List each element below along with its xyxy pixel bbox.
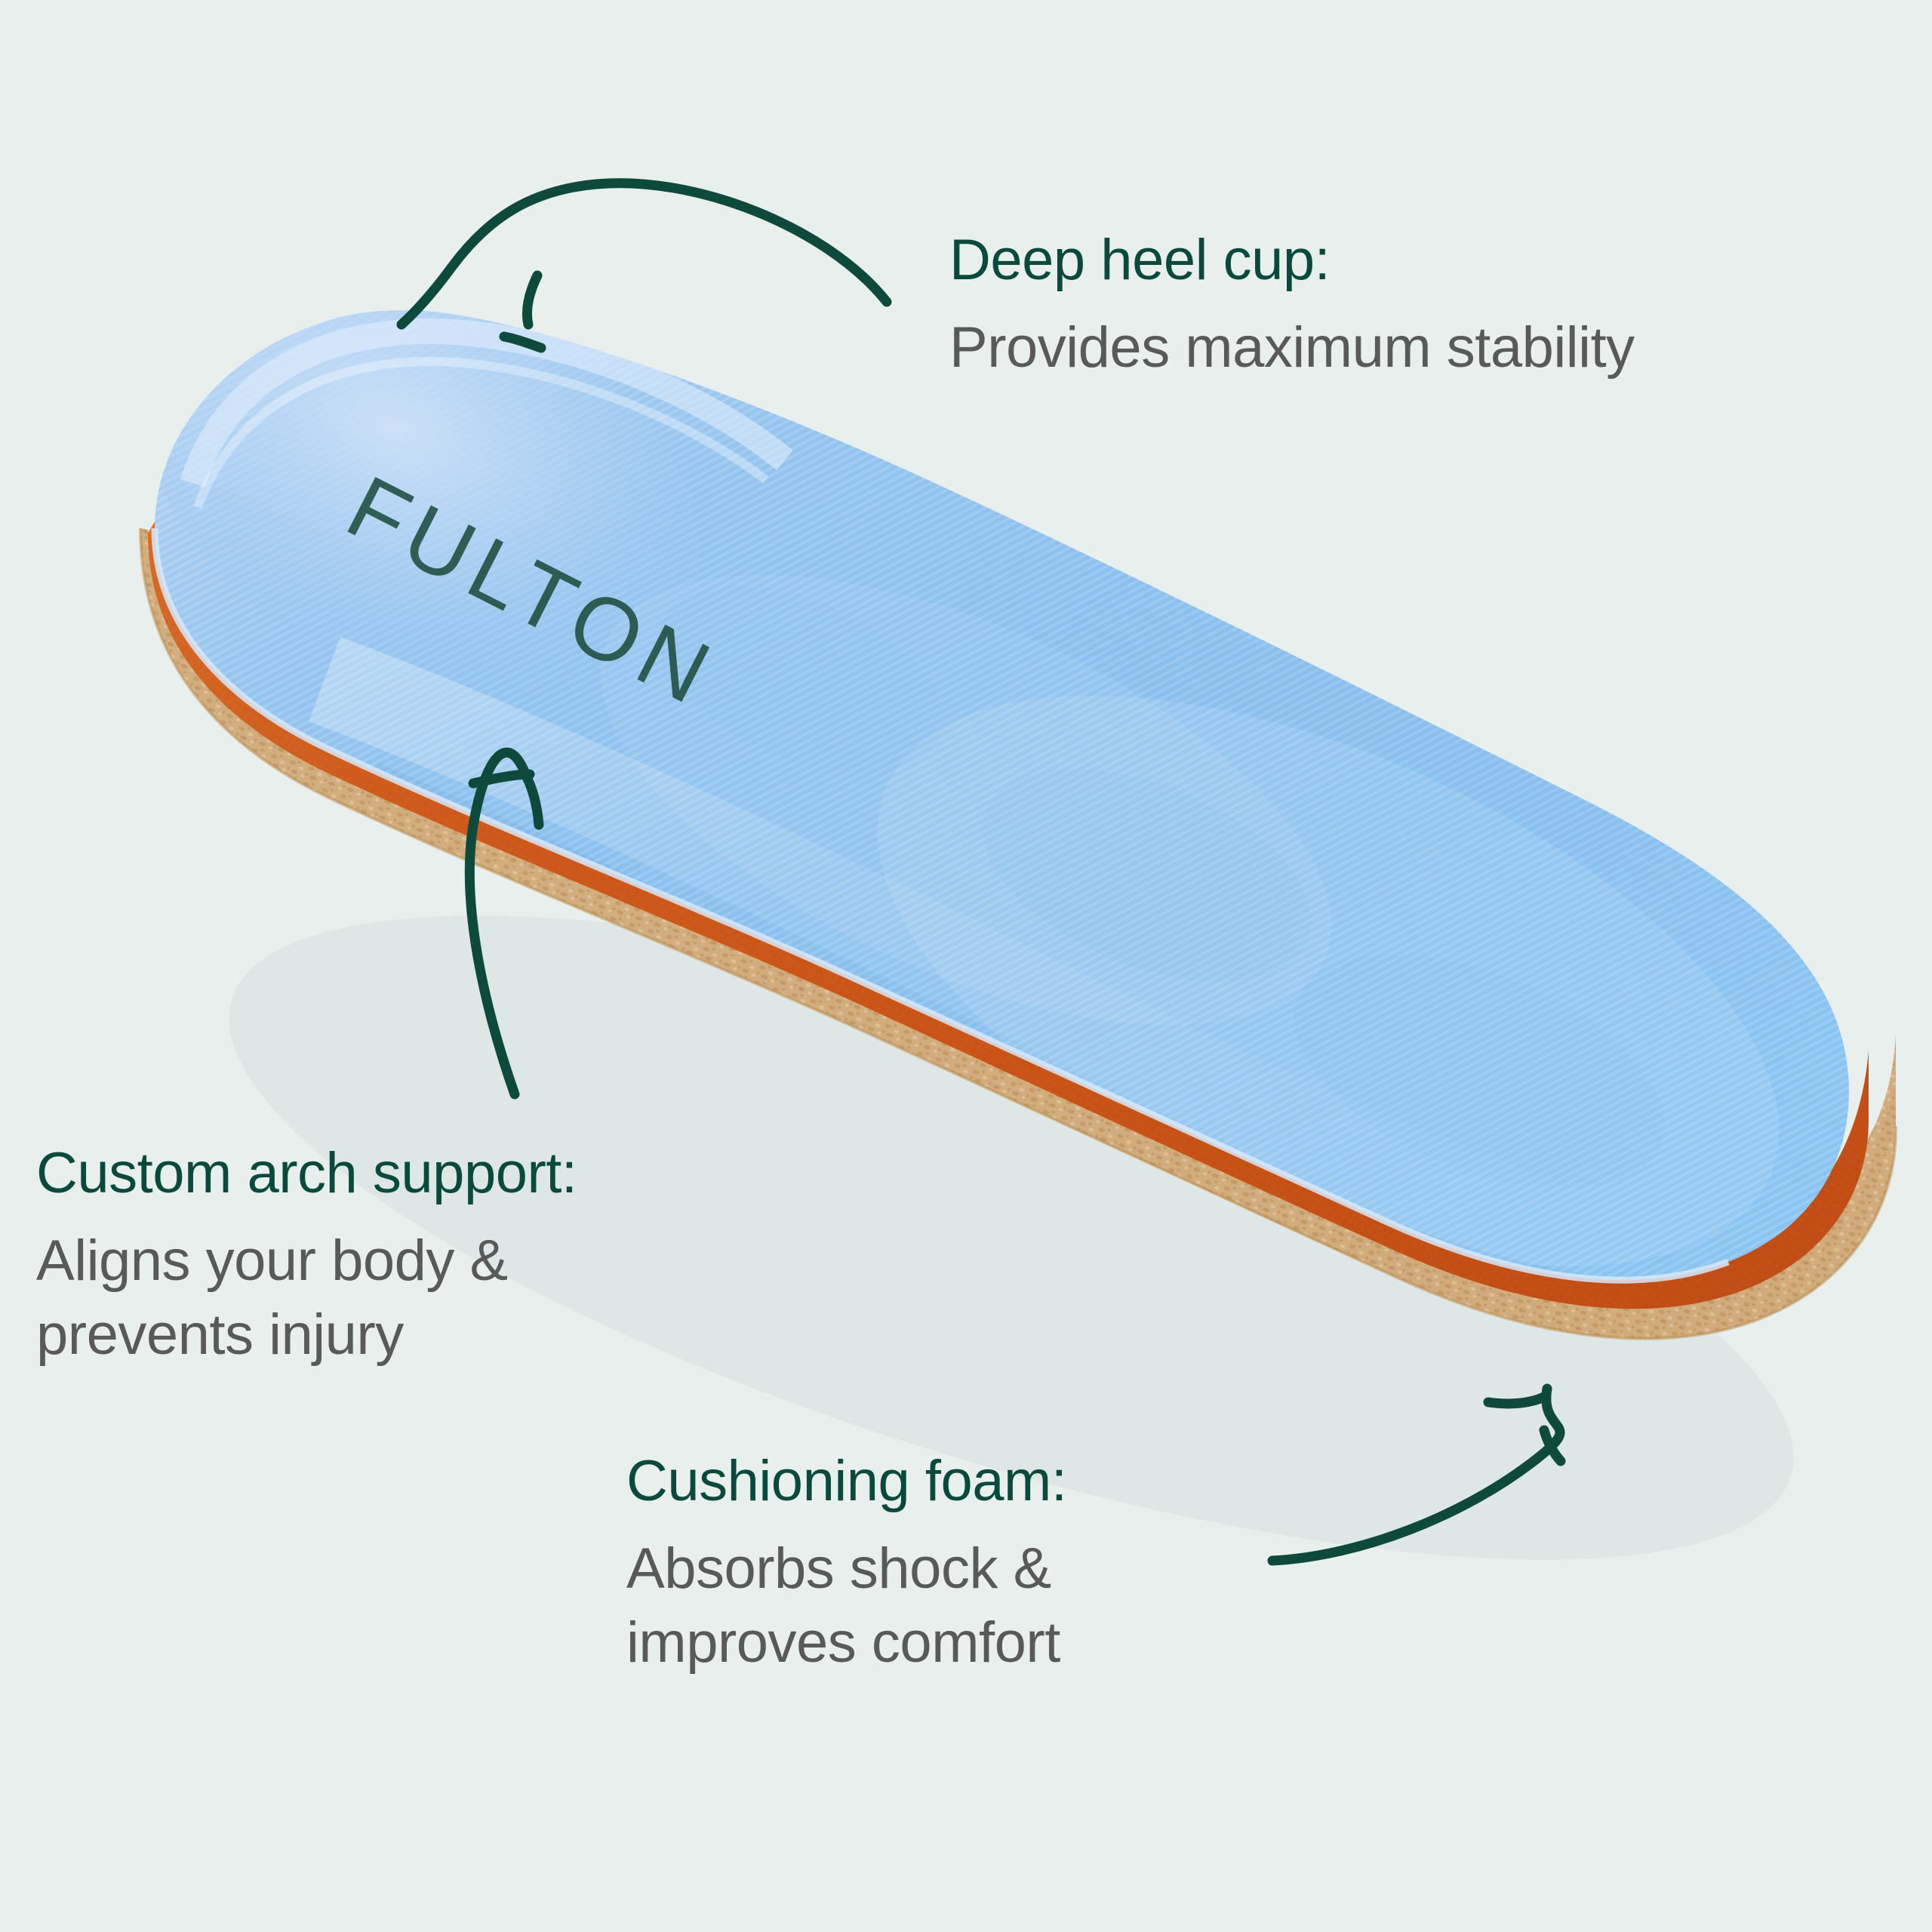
callout-cushioning-foam: Cushioning foam: Absorbs shock & improve… — [626, 1447, 1066, 1681]
curved-arrow-down-left-icon — [401, 183, 887, 348]
curved-arrow-up-right-icon-2 — [1272, 1389, 1561, 1561]
callout-body-cushioning-foam: Absorbs shock & improves comfort — [626, 1532, 1066, 1681]
callout-title-custom-arch-support: Custom arch support: — [36, 1140, 577, 1207]
callout-body-custom-arch-support: Aligns your body & prevents injury — [36, 1224, 577, 1374]
callout-title-cushioning-foam: Cushioning foam: — [626, 1447, 1066, 1515]
callout-line: Absorbs shock & — [626, 1532, 1066, 1607]
callout-custom-arch-support: Custom arch support: Aligns your body & … — [36, 1140, 577, 1373]
callout-title-deep-heel-cup: Deep heel cup: — [949, 226, 1635, 294]
callout-line: prevents injury — [36, 1298, 577, 1373]
callout-line: Aligns your body & — [36, 1224, 577, 1299]
callout-deep-heel-cup: Deep heel cup: Provides maximum stabilit… — [949, 226, 1635, 385]
infographic-canvas: FULTON — [0, 0, 1932, 1932]
curved-arrow-up-right-icon — [469, 752, 539, 1094]
callout-line: improves comfort — [626, 1606, 1066, 1681]
callout-body-deep-heel-cup: Provides maximum stability — [949, 311, 1635, 386]
callout-line: Provides maximum stability — [949, 311, 1635, 386]
